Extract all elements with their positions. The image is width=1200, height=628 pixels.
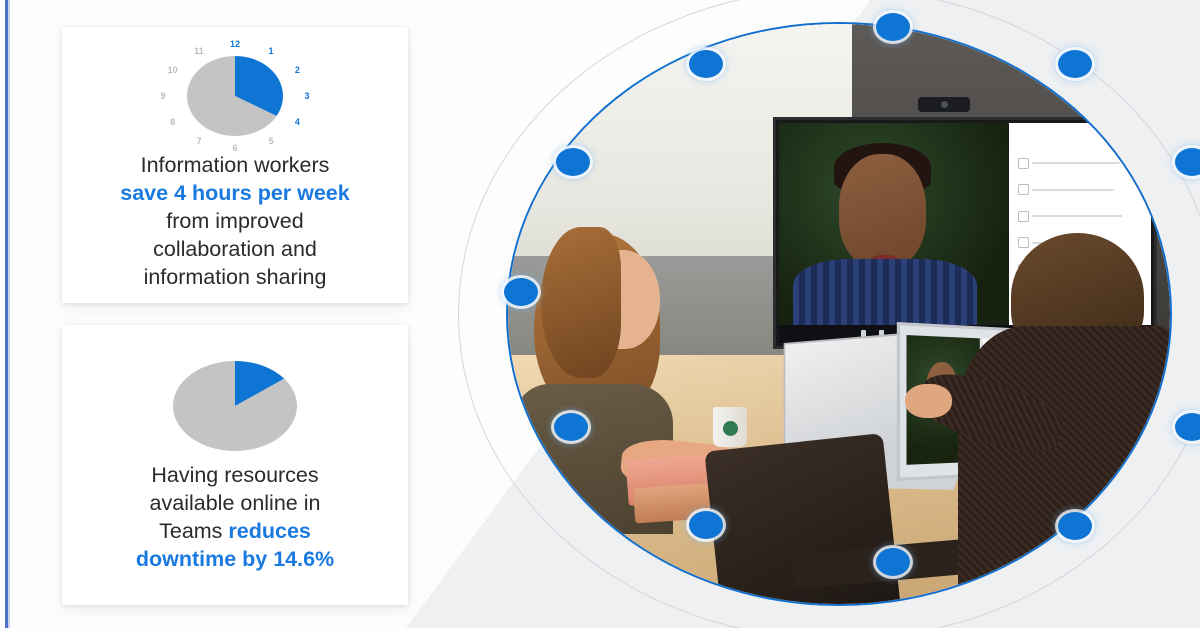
caption-line: Teams: [159, 519, 228, 543]
ring-dot-9: [689, 511, 723, 539]
coffee-cup: [713, 407, 747, 447]
doc-icon-4: [1018, 237, 1029, 248]
ring-dot-2: [1058, 50, 1092, 78]
caption-highlight: downtime by 14.6%: [136, 547, 334, 571]
ring-dot-7: [554, 413, 588, 441]
doc-icon-2: [1018, 184, 1029, 195]
clock-number-12: 12: [230, 39, 240, 49]
clock-number-3: 3: [304, 91, 309, 101]
clock-number-2: 2: [295, 65, 300, 75]
coffee-cup-logo: [723, 421, 738, 436]
caption-line: Having resources: [151, 463, 318, 487]
caption-line: information sharing: [144, 265, 327, 289]
man-sweater: [958, 326, 1172, 606]
pie-svg: [155, 351, 315, 461]
caption-highlight: reduces: [228, 519, 310, 543]
clock-pie-chart: 121234567891011: [150, 41, 320, 151]
clock-number-1: 1: [268, 46, 273, 56]
clock-number-5: 5: [268, 136, 273, 146]
downtime-caption: Having resources available online in Tea…: [128, 461, 342, 573]
caption-line: from improved: [166, 209, 303, 233]
man-hand: [905, 384, 951, 419]
remote-participant-face: [839, 154, 927, 268]
clock-number-8: 8: [170, 117, 175, 127]
downtime-stat-card: Having resources available online in Tea…: [62, 325, 408, 605]
clock-number-7: 7: [196, 136, 201, 146]
caption-line: collaboration and: [153, 237, 317, 261]
clock-number-10: 10: [168, 65, 178, 75]
doc-text-line: [1032, 189, 1114, 191]
caption-line: Information workers: [141, 153, 330, 177]
productivity-stat-card: 121234567891011 Information workers save…: [62, 27, 408, 303]
caption-line: available online in: [150, 491, 321, 515]
ring-dot-4: [556, 148, 590, 176]
slide-canvas: 121234567891011 Information workers save…: [0, 0, 1200, 628]
pie-svg: [150, 41, 320, 151]
productivity-caption: Information workers save 4 hours per wee…: [112, 151, 357, 291]
doc-text-line: [1032, 215, 1122, 217]
downtime-pie-chart: [155, 351, 315, 461]
webcam-lens-icon: [941, 101, 948, 108]
clock-number-9: 9: [160, 91, 165, 101]
doc-text-line: [1032, 162, 1120, 164]
webcam-device: [918, 97, 970, 112]
ring-dot-3: [689, 50, 723, 78]
ring-dot-6: [504, 278, 538, 306]
clock-number-11: 11: [194, 46, 204, 56]
clock-number-4: 4: [295, 117, 300, 127]
clock-number-6: 6: [232, 143, 237, 153]
left-accent-rule-soft: [8, 0, 10, 628]
ring-dot-10: [1058, 512, 1092, 540]
doc-icon-3: [1018, 211, 1029, 222]
doc-icon-1: [1018, 158, 1029, 169]
ring-dot-11: [876, 548, 910, 576]
ring-dot-1: [876, 13, 910, 41]
caption-highlight: save 4 hours per week: [120, 181, 349, 205]
remote-participant-video: [779, 123, 1010, 343]
woman-hair-front: [541, 227, 620, 378]
